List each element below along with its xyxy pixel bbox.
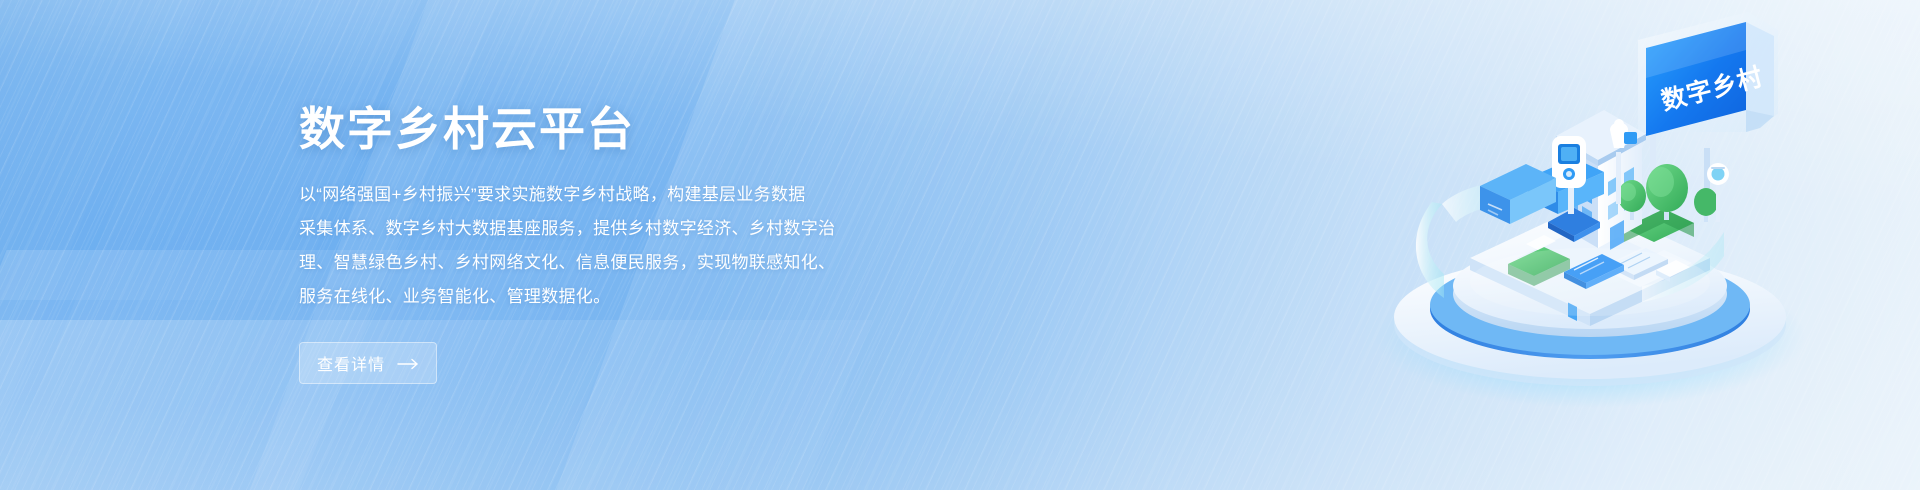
platform-highlight	[1470, 248, 1710, 316]
data-server-block	[1480, 164, 1556, 224]
arrow-right-icon	[397, 357, 419, 369]
tree-large	[1646, 164, 1688, 220]
view-details-label: 查看详情	[317, 351, 385, 375]
description-line: 采集体系、数字乡村大数据基座服务，提供乡村数字经济、乡村数字治	[299, 212, 869, 246]
hero-banner: 数字乡村云平台 以“网络强国+乡村振兴”要求实施数字乡村战略，构建基层业务数据 …	[0, 0, 1920, 490]
description-line: 服务在线化、业务智能化、管理数据化。	[299, 280, 869, 314]
banner-content: 数字乡村云平台 以“网络强国+乡村振兴”要求实施数字乡村战略，构建基层业务数据 …	[299, 0, 919, 490]
page-title: 数字乡村云平台	[299, 106, 919, 152]
digital-village-illustration: 数字乡村	[1312, 6, 1872, 426]
curved-glass-fence	[1416, 202, 1444, 298]
tree-far	[1694, 188, 1718, 222]
bg-facet-f	[0, 0, 171, 490]
banner-description: 以“网络强国+乡村振兴”要求实施数字乡村战略，构建基层业务数据 采集体系、数字乡…	[299, 178, 869, 314]
view-details-button[interactable]: 查看详情	[299, 342, 437, 384]
description-line: 理、智慧绿色乡村、乡村网络文化、信息便民服务，实现物联感知化、	[299, 246, 869, 280]
description-line: 以“网络强国+乡村振兴”要求实施数字乡村战略，构建基层业务数据	[299, 178, 869, 212]
